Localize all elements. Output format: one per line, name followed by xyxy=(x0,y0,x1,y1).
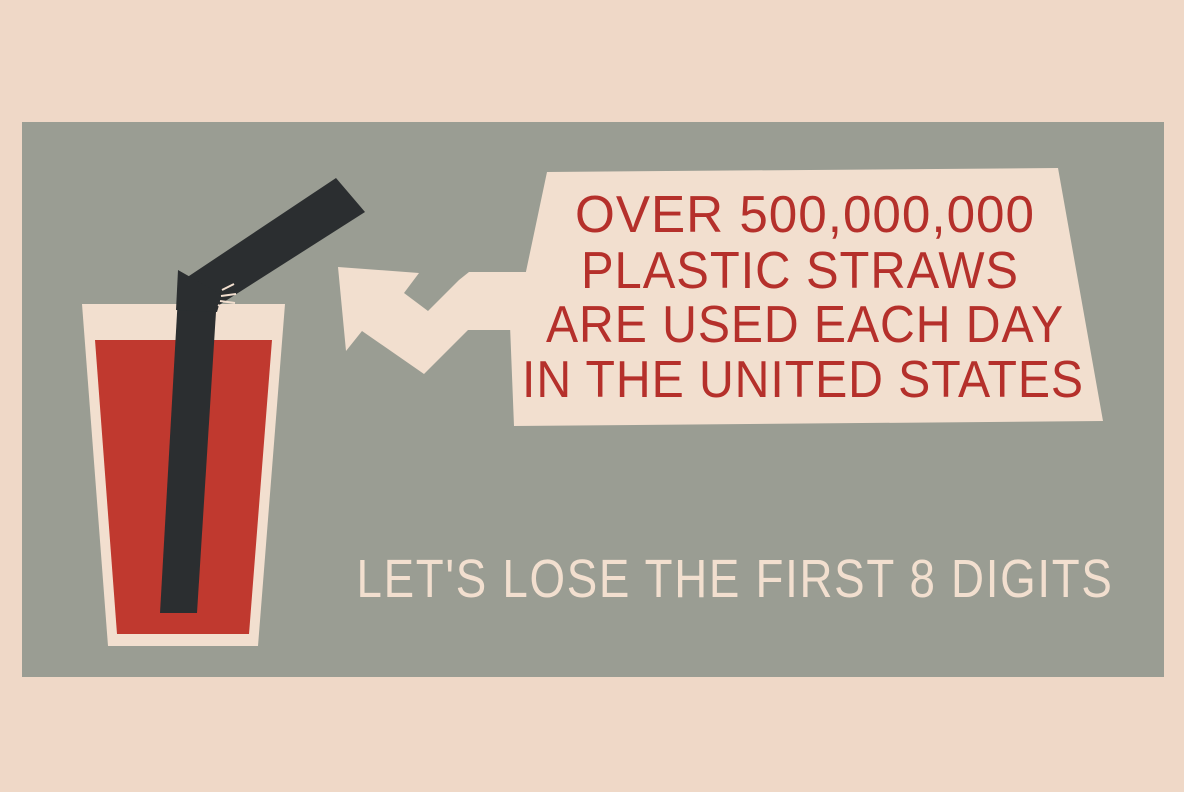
poster-artwork: OVER 500,000,000 PLASTIC STRAWS ARE USED… xyxy=(0,0,1184,792)
callout-bubble-text: OVER 500,000,000 PLASTIC STRAWS ARE USED… xyxy=(522,186,1084,409)
bubble-line-2: PLASTIC STRAWS xyxy=(581,242,1019,300)
bubble-line-1: OVER 500,000,000 xyxy=(575,186,1035,244)
poster-canvas: OVER 500,000,000 PLASTIC STRAWS ARE USED… xyxy=(0,0,1184,792)
drink-glass-with-bendy-straw xyxy=(82,178,365,646)
bubble-line-3: ARE USED EACH DAY xyxy=(546,296,1064,354)
bubble-line-4: IN THE UNITED STATES xyxy=(522,351,1084,409)
tagline: LET'S LOSE THE FIRST 8 DIGITS xyxy=(357,549,1114,609)
